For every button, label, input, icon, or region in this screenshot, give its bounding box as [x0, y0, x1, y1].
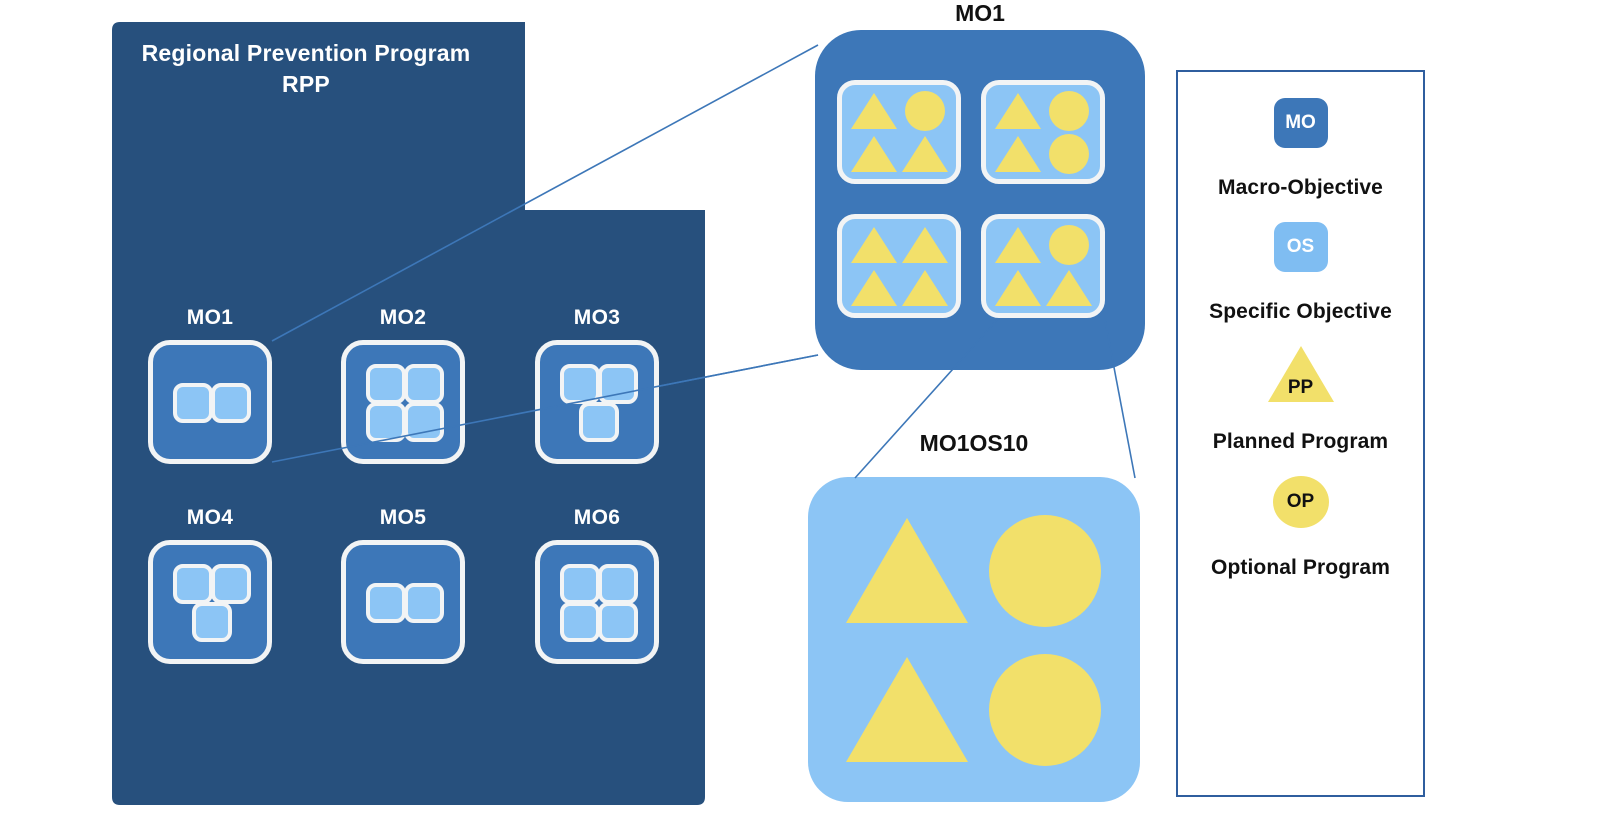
planned-program-triangle-icon: [995, 227, 1041, 263]
planned-program-triangle-icon: [995, 136, 1041, 172]
mo-card-mo6[interactable]: MO6: [535, 540, 659, 664]
planned-program-triangle-icon: [851, 136, 897, 172]
legend-entry-os: OS Specific Objective: [1178, 222, 1423, 324]
legend-label: Optional Program: [1211, 556, 1390, 580]
legend-label: Planned Program: [1213, 430, 1388, 454]
optional-program-circle-icon: [989, 515, 1101, 627]
legend-code: PP: [1288, 377, 1313, 399]
optional-program-circle-icon: [989, 654, 1101, 766]
program-shape-grid: [848, 89, 950, 175]
os-chip: [598, 602, 638, 642]
mo-card-mo2[interactable]: MO2: [341, 340, 465, 464]
mo-box: [535, 340, 659, 464]
mo-box: [148, 540, 272, 664]
planned-program-triangle-icon: [995, 93, 1041, 129]
optional-program-circle-icon: OP: [1273, 476, 1329, 528]
mo-card-label: MO5: [341, 506, 465, 530]
program-shape-grid: [838, 501, 1114, 779]
planned-program-triangle-icon: [902, 227, 948, 263]
mo-box: [535, 540, 659, 664]
os-chip: [404, 583, 444, 623]
legend-entry-op: OP Optional Program: [1178, 476, 1423, 580]
mo-card-label: MO3: [535, 306, 659, 330]
legend-entry-pp: PP Planned Program: [1178, 346, 1423, 454]
os-chip: [404, 364, 444, 404]
legend-entry-mo: MO Macro-Objective: [1178, 98, 1423, 200]
mo-card-mo4[interactable]: MO4: [148, 540, 272, 664]
mo-card-mo1[interactable]: MO1: [148, 340, 272, 464]
os-chip: [598, 564, 638, 604]
planned-program-triangle-icon: [851, 93, 897, 129]
mo1-detail-title: MO1: [815, 0, 1145, 27]
os-chip: [366, 364, 406, 404]
planned-program-triangle-icon: PP: [1268, 346, 1334, 402]
legend-panel: MO Macro-Objective OS Specific Objective…: [1176, 70, 1425, 797]
optional-program-circle-icon: [1049, 225, 1089, 265]
mo-box: [341, 540, 465, 664]
os-chip: [560, 564, 600, 604]
mo-card-mo5[interactable]: MO5: [341, 540, 465, 664]
os10-detail-panel: [808, 477, 1140, 802]
legend-code: MO: [1285, 112, 1316, 134]
program-shape-grid: [848, 223, 950, 309]
os-chip: [173, 383, 213, 423]
mo-box: [148, 340, 272, 464]
mo-box: [341, 340, 465, 464]
planned-program-triangle-icon: [846, 518, 968, 623]
os-chip: [211, 564, 251, 604]
planned-program-triangle-icon: [902, 270, 948, 306]
macro-objective-icon: MO: [1274, 98, 1328, 148]
optional-program-circle-icon: [1049, 91, 1089, 131]
planned-program-triangle-icon: [1046, 270, 1092, 306]
mo-card-label: MO4: [148, 506, 272, 530]
os-detail-box[interactable]: [981, 214, 1105, 318]
mo-card-mo3[interactable]: MO3: [535, 340, 659, 464]
planned-program-triangle-icon: [851, 270, 897, 306]
legend-label: Macro-Objective: [1218, 176, 1383, 200]
planned-program-triangle-icon: [851, 227, 897, 263]
planned-program-triangle-icon: [846, 657, 968, 762]
mo-card-label: MO1: [148, 306, 272, 330]
mo1-detail-panel: [815, 30, 1145, 370]
optional-program-circle-icon: [1049, 134, 1089, 174]
os-detail-box[interactable]: [981, 80, 1105, 184]
program-shape-grid: [992, 223, 1094, 309]
mo-card-label: MO6: [535, 506, 659, 530]
os-chip: [560, 364, 600, 404]
os-chip: [211, 383, 251, 423]
planned-program-triangle-icon: [902, 136, 948, 172]
os-detail-box[interactable]: [837, 80, 961, 184]
planned-program-triangle-icon: [995, 270, 1041, 306]
os-chip: [173, 564, 213, 604]
os-chip: [192, 602, 232, 642]
program-shape-grid: [992, 89, 1094, 175]
os-detail-box[interactable]: [837, 214, 961, 318]
mo-card-label: MO2: [341, 306, 465, 330]
os-chip: [366, 583, 406, 623]
os-chip: [560, 602, 600, 642]
diagram-canvas: Regional Prevention Program RPP MO1 MO2 …: [0, 0, 1598, 834]
legend-code: OP: [1287, 491, 1314, 513]
os-chip: [598, 364, 638, 404]
os10-detail-title: MO1OS10: [808, 430, 1140, 457]
specific-objective-icon: OS: [1274, 222, 1328, 272]
os-chip: [579, 402, 619, 442]
optional-program-circle-icon: [905, 91, 945, 131]
legend-code: OS: [1287, 236, 1314, 258]
os-chip: [366, 402, 406, 442]
os-chip: [404, 402, 444, 442]
page-title: Regional Prevention Program RPP: [126, 38, 486, 100]
legend-label: Specific Objective: [1209, 300, 1392, 324]
